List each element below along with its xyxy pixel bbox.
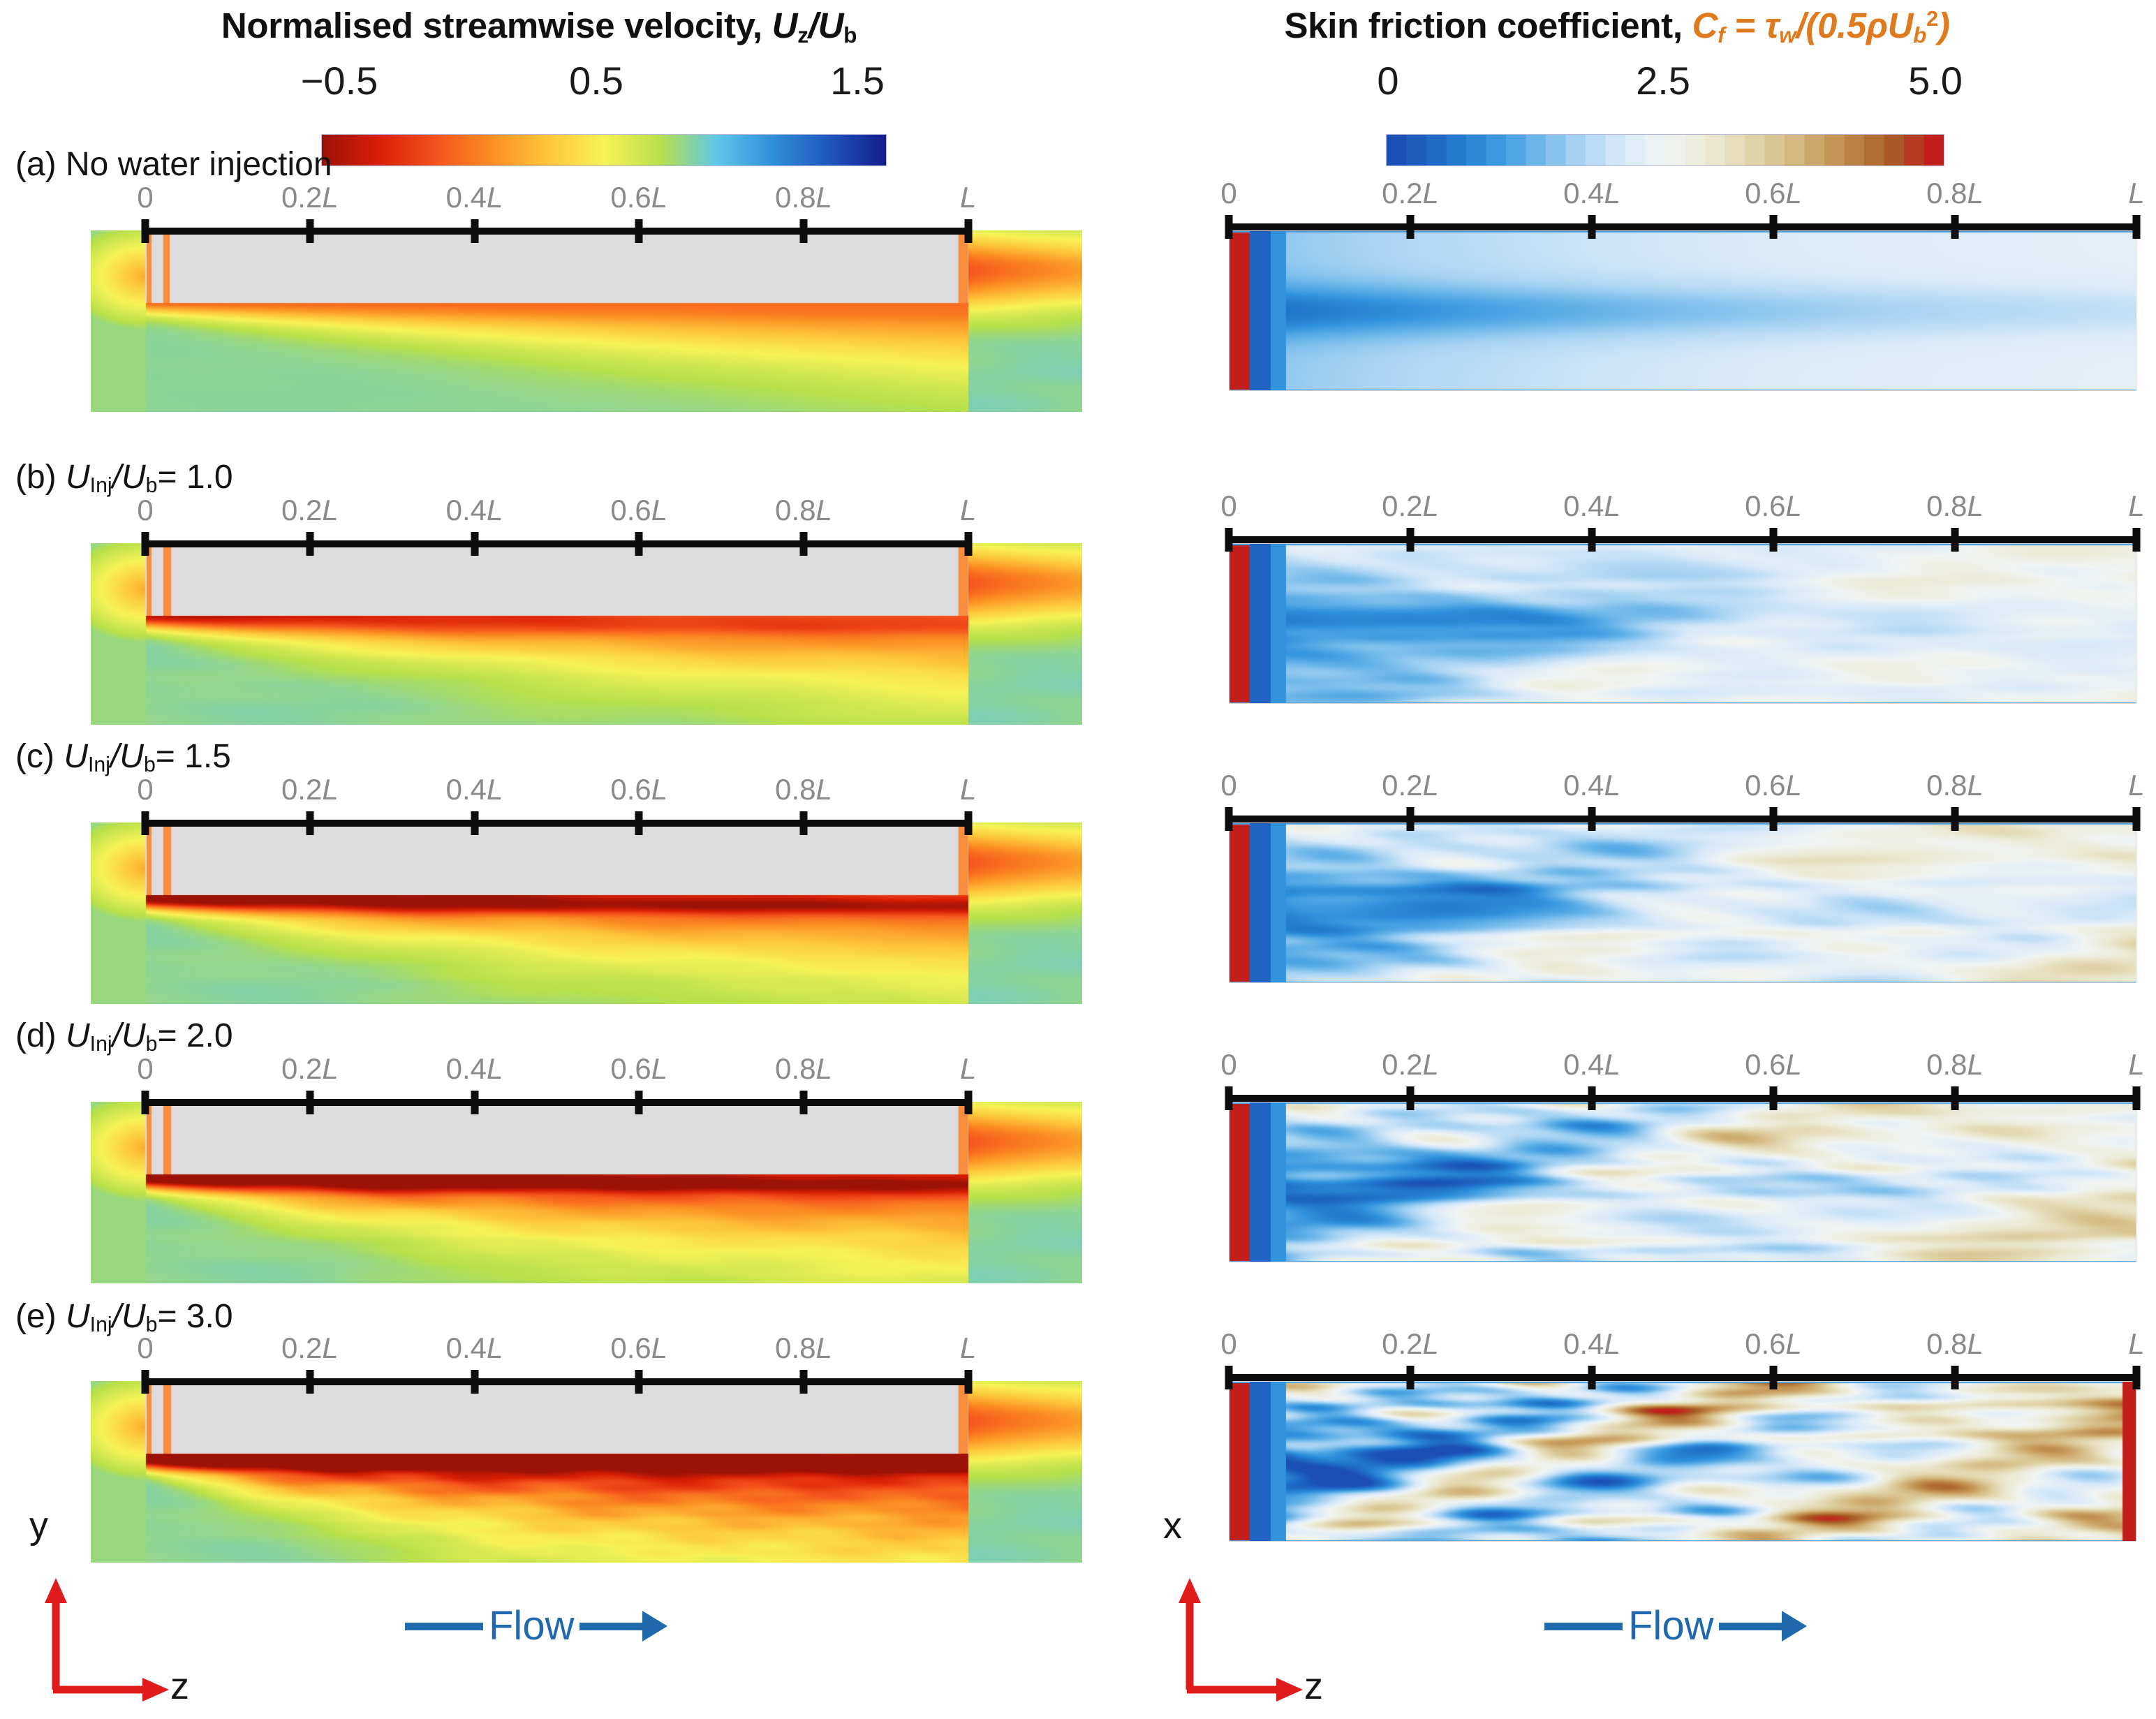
axis-tick-4 xyxy=(799,532,807,556)
axis-tick-label-5: L xyxy=(960,775,976,804)
axis-tick-4 xyxy=(799,1370,807,1394)
axis-tick-1 xyxy=(306,1370,313,1394)
cf-colorbar xyxy=(1386,134,1944,166)
cf-title-sub-f: f xyxy=(1718,22,1725,47)
axis-tick-5 xyxy=(2133,1366,2141,1389)
velocity-title-slash: / xyxy=(808,6,818,45)
axis-tick-label-1: 0.2L xyxy=(1382,1050,1439,1079)
axis-tick-2 xyxy=(1588,215,1596,239)
panel-b-prefix: (b) xyxy=(15,459,66,496)
panel-e-eq: = xyxy=(157,1298,186,1335)
axis-tick-label-4: 0.8L xyxy=(1926,179,1984,208)
panel-d-ratio: 2.0 xyxy=(186,1017,233,1054)
axis-tick-label-5: L xyxy=(960,1054,976,1084)
cf-title-C: C xyxy=(1692,6,1718,45)
axis-ruler: 00.2L0.4L0.6L0.8LL xyxy=(145,540,968,547)
axis-tick-label-1: 0.2L xyxy=(281,1334,339,1363)
axis-tick-label-3: 0.6L xyxy=(610,1054,667,1084)
axis-tick-3 xyxy=(635,219,643,243)
cf-title-sub-b: b xyxy=(1913,22,1926,47)
cf-title-tau: τ xyxy=(1765,6,1780,45)
panel-a-prefix: (a) xyxy=(15,146,66,183)
axis-tick-label-4: 0.8L xyxy=(775,183,832,212)
cf-title-sub-w: w xyxy=(1779,22,1796,47)
axis-ruler: 00.2L0.4L0.6L0.8LL xyxy=(1229,816,2136,822)
axis-tick-label-2: 0.4L xyxy=(446,1334,503,1363)
panel-caption-d: (d) UInj/Ub= 2.0 xyxy=(15,1019,233,1055)
axis-tick-label-2: 0.4L xyxy=(446,496,503,525)
axis-tick-label-5: L xyxy=(960,183,976,212)
cf-contour-canvas-a xyxy=(1230,231,2136,390)
velocity-contour-panel-e xyxy=(91,1381,1082,1563)
axis-tick-label-3: 0.6L xyxy=(1745,492,1802,521)
cf-title-open: /(0.5 xyxy=(1796,6,1866,45)
panel-e-ratio: 3.0 xyxy=(186,1298,233,1335)
axis-tick-3 xyxy=(1770,215,1778,239)
panel-c-slash: / xyxy=(110,738,119,775)
cf-contour-canvas-c xyxy=(1230,823,2136,982)
axis-tick-5 xyxy=(964,1370,972,1394)
panel-d-U2: U xyxy=(121,1017,146,1054)
axis-tick-label-5: L xyxy=(2128,1050,2144,1079)
axis-tick-2 xyxy=(1588,1366,1596,1389)
velocity-contour-canvas-a xyxy=(91,230,1082,412)
axis-tick-label-3: 0.6L xyxy=(610,496,667,525)
axis-tick-4 xyxy=(1951,807,1959,831)
axis-tick-label-5: L xyxy=(960,496,976,525)
panel-c-U: U xyxy=(64,738,88,775)
axis-tick-label-0: 0 xyxy=(1220,771,1236,800)
cf-title-U: U xyxy=(1888,6,1914,45)
axis-tick-4 xyxy=(1951,1086,1959,1110)
axis-tick-3 xyxy=(635,1091,643,1114)
flow-label-left: Flow xyxy=(483,1606,579,1646)
axis-tick-label-4: 0.8L xyxy=(775,775,832,804)
panel-b-ratio: 1.0 xyxy=(186,459,233,496)
panel-c-ratio: 1.5 xyxy=(184,738,231,775)
axis-tick-label-1: 0.2L xyxy=(1382,1329,1439,1359)
panel-c-prefix: (c) xyxy=(15,738,64,775)
axis-tick-0 xyxy=(1225,1366,1233,1389)
axis-tick-2 xyxy=(471,811,478,835)
axis-tick-label-0: 0 xyxy=(137,496,153,525)
axis-tick-5 xyxy=(964,219,972,243)
panel-b-eq: = xyxy=(157,459,186,496)
axis-tick-label-3: 0.6L xyxy=(1745,771,1802,800)
axis-tick-3 xyxy=(635,811,643,835)
axis-tick-label-1: 0.2L xyxy=(1382,492,1439,521)
velocity-title-sub-b: b xyxy=(843,22,857,47)
axis-tick-0 xyxy=(1225,807,1233,831)
axis-tick-label-2: 0.4L xyxy=(1563,1050,1620,1079)
cf-colorbar-title: Skin friction coefficient, Cf = τw/(0.5ρ… xyxy=(1078,7,2156,47)
velocity-contour-panel-a xyxy=(91,230,1082,412)
axis-tick-3 xyxy=(1770,1366,1778,1389)
axis-tick-label-3: 0.6L xyxy=(1745,179,1802,208)
cf-contour-canvas-b xyxy=(1230,544,2136,703)
axis-tick-0 xyxy=(142,1091,149,1114)
axis-label-z-right: z xyxy=(1304,1667,1323,1705)
panel-caption-e: (e) UInj/Ub= 3.0 xyxy=(15,1300,233,1336)
axis-tick-label-1: 0.2L xyxy=(281,496,339,525)
velocity-contour-canvas-b xyxy=(91,543,1082,725)
axis-ruler: 00.2L0.4L0.6L0.8LL xyxy=(1229,536,2136,543)
velocity-title-text: Normalised streamwise velocity, xyxy=(221,6,772,45)
axis-label-y: y xyxy=(29,1507,48,1544)
cf-title-rho: ρ xyxy=(1866,6,1888,45)
axis-tick-2 xyxy=(1588,1086,1596,1110)
cf-tick-2.5: 2.5 xyxy=(1636,61,1690,101)
axis-tick-label-0: 0 xyxy=(1220,1050,1236,1079)
axis-tick-label-2: 0.4L xyxy=(1563,1329,1620,1359)
axis-tick-2 xyxy=(1588,528,1596,552)
cf-contour-canvas-d xyxy=(1230,1102,2136,1262)
velocity-tick--0.5: −0.5 xyxy=(301,61,378,101)
axis-tick-label-3: 0.6L xyxy=(1745,1050,1802,1079)
axis-ruler: 00.2L0.4L0.6L0.8LL xyxy=(145,228,968,235)
axis-tick-5 xyxy=(2133,807,2141,831)
axis-tick-label-4: 0.8L xyxy=(775,1054,832,1084)
panel-b-U2: U xyxy=(121,459,146,496)
axis-tick-3 xyxy=(1770,528,1778,552)
panel-e-U: U xyxy=(66,1298,90,1335)
cf-tick-5.0: 5.0 xyxy=(1908,61,1963,101)
axis-tick-1 xyxy=(1407,1086,1415,1110)
velocity-title-sub-z: z xyxy=(797,22,808,47)
flow-arrow-left xyxy=(579,1623,644,1630)
axis-tick-label-5: L xyxy=(2128,179,2144,208)
axis-tick-0 xyxy=(1225,1086,1233,1110)
panel-b-U: U xyxy=(66,459,90,496)
flow-indicator-right: Flow xyxy=(1544,1606,1783,1646)
flow-bar-right xyxy=(1544,1623,1623,1630)
panel-c-eq: = xyxy=(156,738,184,775)
velocity-contour-panel-c xyxy=(91,822,1082,1004)
axis-tick-label-4: 0.8L xyxy=(775,1334,832,1363)
axis-tick-5 xyxy=(2133,1086,2141,1110)
panel-e-slash: / xyxy=(112,1298,121,1335)
axis-tick-label-0: 0 xyxy=(1220,492,1236,521)
panel-e-sub-inj: Inj xyxy=(90,1313,112,1336)
cf-title-equals: = xyxy=(1725,6,1764,45)
axis-ruler: 00.2L0.4L0.6L0.8LL xyxy=(145,1099,968,1106)
cf-tick-0: 0 xyxy=(1377,61,1398,101)
axis-tick-0 xyxy=(142,1370,149,1394)
panel-e-U2: U xyxy=(121,1298,146,1335)
axis-tick-label-5: L xyxy=(2128,1329,2144,1359)
axis-tick-3 xyxy=(1770,807,1778,831)
axis-ruler: 00.2L0.4L0.6L0.8LL xyxy=(1229,1374,2136,1381)
axis-tick-label-1: 0.2L xyxy=(281,775,339,804)
velocity-contour-canvas-d xyxy=(91,1102,1082,1283)
axis-tick-0 xyxy=(142,219,149,243)
velocity-tick-1.5: 1.5 xyxy=(830,61,885,101)
axis-tick-label-2: 0.4L xyxy=(1563,771,1620,800)
axis-tick-label-0: 0 xyxy=(137,1054,153,1084)
axis-tick-label-4: 0.8L xyxy=(1926,1329,1984,1359)
panel-c-U2: U xyxy=(119,738,144,775)
velocity-title-U: U xyxy=(772,6,798,45)
axis-tick-label-5: L xyxy=(960,1334,976,1363)
axis-tick-1 xyxy=(306,219,313,243)
axis-tick-label-1: 0.2L xyxy=(1382,179,1439,208)
panel-e-prefix: (e) xyxy=(15,1298,66,1335)
velocity-colorbar-ticklabels: −0.5 0.5 1.5 xyxy=(0,61,1078,106)
axis-tick-label-0: 0 xyxy=(137,1334,153,1363)
axis-tick-0 xyxy=(142,532,149,556)
panel-d-sub-inj: Inj xyxy=(90,1033,112,1056)
axis-tick-3 xyxy=(1770,1086,1778,1110)
panel-b-sub-inj: Inj xyxy=(90,474,112,497)
axis-tick-1 xyxy=(1407,528,1415,552)
panel-caption-a: (a) No water injection xyxy=(15,148,332,182)
axis-tick-4 xyxy=(799,811,807,835)
axis-tick-label-4: 0.8L xyxy=(1926,492,1984,521)
axis-tick-label-1: 0.2L xyxy=(281,183,339,212)
axis-ruler: 00.2L0.4L0.6L0.8LL xyxy=(1229,1095,2136,1102)
cf-contour-panel-e xyxy=(1229,1381,2136,1542)
panel-caption-c: (c) UInj/Ub= 1.5 xyxy=(15,740,231,776)
axis-tick-5 xyxy=(964,811,972,835)
axis-tick-4 xyxy=(799,1091,807,1114)
panel-c-sub-inj: Inj xyxy=(88,753,110,776)
cf-contour-panel-c xyxy=(1229,822,2136,983)
axis-tick-1 xyxy=(1407,1366,1415,1389)
axis-tick-1 xyxy=(1407,215,1415,239)
axis-tick-label-4: 0.8L xyxy=(1926,771,1984,800)
cf-contour-canvas-e xyxy=(1230,1382,2136,1541)
panel-b-slash: / xyxy=(112,459,121,496)
cf-title-close: ) xyxy=(1938,6,1950,45)
axis-tick-label-5: L xyxy=(2128,771,2144,800)
axis-tick-label-3: 0.6L xyxy=(610,1334,667,1363)
axis-tick-label-1: 0.2L xyxy=(281,1054,339,1084)
axis-tick-4 xyxy=(1951,215,1959,239)
axis-tick-2 xyxy=(471,219,478,243)
axis-tick-0 xyxy=(142,811,149,835)
axis-tick-1 xyxy=(306,532,313,556)
axis-tick-label-3: 0.6L xyxy=(610,183,667,212)
figure-canvas: Normalised streamwise velocity, Uz/Ub −0… xyxy=(0,0,2156,1719)
axis-tick-0 xyxy=(1225,528,1233,552)
axis-tick-0 xyxy=(1225,215,1233,239)
axis-tick-5 xyxy=(964,1091,972,1114)
panel-a-text: No water injection xyxy=(66,146,332,183)
axis-tick-label-0: 0 xyxy=(137,775,153,804)
cf-title-text: Skin friction coefficient, xyxy=(1284,6,1692,45)
axis-tick-5 xyxy=(2133,528,2141,552)
velocity-column-header: Normalised streamwise velocity, Uz/Ub xyxy=(0,7,1078,47)
panel-d-U: U xyxy=(66,1017,90,1054)
flow-bar-left xyxy=(405,1623,483,1630)
flow-label-right: Flow xyxy=(1623,1606,1719,1646)
panel-d-eq: = xyxy=(157,1017,186,1054)
panel-d-slash: / xyxy=(112,1017,121,1054)
velocity-colorbar xyxy=(321,134,887,166)
axis-tick-5 xyxy=(2133,215,2141,239)
axis-tick-2 xyxy=(471,1370,478,1394)
axis-tick-1 xyxy=(1407,807,1415,831)
axis-label-x: x xyxy=(1163,1507,1182,1544)
velocity-colorbar-title: Normalised streamwise velocity, Uz/Ub xyxy=(0,7,1078,47)
axis-tick-4 xyxy=(799,219,807,243)
axis-tick-1 xyxy=(306,1091,313,1114)
axis-tick-2 xyxy=(471,1091,478,1114)
axis-tick-label-2: 0.4L xyxy=(446,775,503,804)
cf-contour-panel-b xyxy=(1229,543,2136,704)
axis-tick-3 xyxy=(635,532,643,556)
axis-tick-label-2: 0.4L xyxy=(1563,492,1620,521)
velocity-contour-panel-b xyxy=(91,543,1082,725)
flow-arrow-right xyxy=(1719,1623,1783,1630)
velocity-contour-panel-d xyxy=(91,1102,1082,1283)
axis-ruler: 00.2L0.4L0.6L0.8LL xyxy=(1229,223,2136,230)
axis-tick-2 xyxy=(471,532,478,556)
axis-tick-label-3: 0.6L xyxy=(1745,1329,1802,1359)
axis-tick-label-0: 0 xyxy=(137,183,153,212)
axis-tick-5 xyxy=(964,532,972,556)
axis-ruler: 00.2L0.4L0.6L0.8LL xyxy=(145,1378,968,1385)
cf-title-sup-2: 2 xyxy=(1926,7,1938,31)
axis-tick-label-0: 0 xyxy=(1220,179,1236,208)
cf-contour-panel-a xyxy=(1229,230,2136,391)
axis-tick-1 xyxy=(306,811,313,835)
panel-d-prefix: (d) xyxy=(15,1017,66,1054)
axis-tick-label-3: 0.6L xyxy=(610,775,667,804)
axis-ruler: 00.2L0.4L0.6L0.8LL xyxy=(145,820,968,827)
axis-tick-2 xyxy=(1588,807,1596,831)
axis-tick-label-2: 0.4L xyxy=(446,183,503,212)
cf-contour-panel-d xyxy=(1229,1102,2136,1262)
axis-label-z-left: z xyxy=(170,1667,189,1705)
velocity-contour-canvas-c xyxy=(91,822,1082,1004)
axis-tick-3 xyxy=(635,1370,643,1394)
cf-colorbar-ticklabels: 0 2.5 5.0 xyxy=(1078,61,2156,106)
axis-tick-label-0: 0 xyxy=(1220,1329,1236,1359)
velocity-title-U2: U xyxy=(818,6,844,45)
axis-tick-label-1: 0.2L xyxy=(1382,771,1439,800)
velocity-tick-0.5: 0.5 xyxy=(569,61,623,101)
velocity-contour-canvas-e xyxy=(91,1381,1082,1563)
flow-indicator-left: Flow xyxy=(405,1606,644,1646)
axis-tick-label-5: L xyxy=(2128,492,2144,521)
axis-tick-4 xyxy=(1951,1366,1959,1389)
axis-tick-label-2: 0.4L xyxy=(1563,179,1620,208)
cf-column-header: Skin friction coefficient, Cf = τw/(0.5ρ… xyxy=(1078,7,2156,47)
axis-tick-label-4: 0.8L xyxy=(1926,1050,1984,1079)
axis-tick-4 xyxy=(1951,528,1959,552)
panel-caption-b: (b) UInj/Ub= 1.0 xyxy=(15,461,233,496)
axis-tick-label-2: 0.4L xyxy=(446,1054,503,1084)
axis-tick-label-4: 0.8L xyxy=(775,496,832,525)
